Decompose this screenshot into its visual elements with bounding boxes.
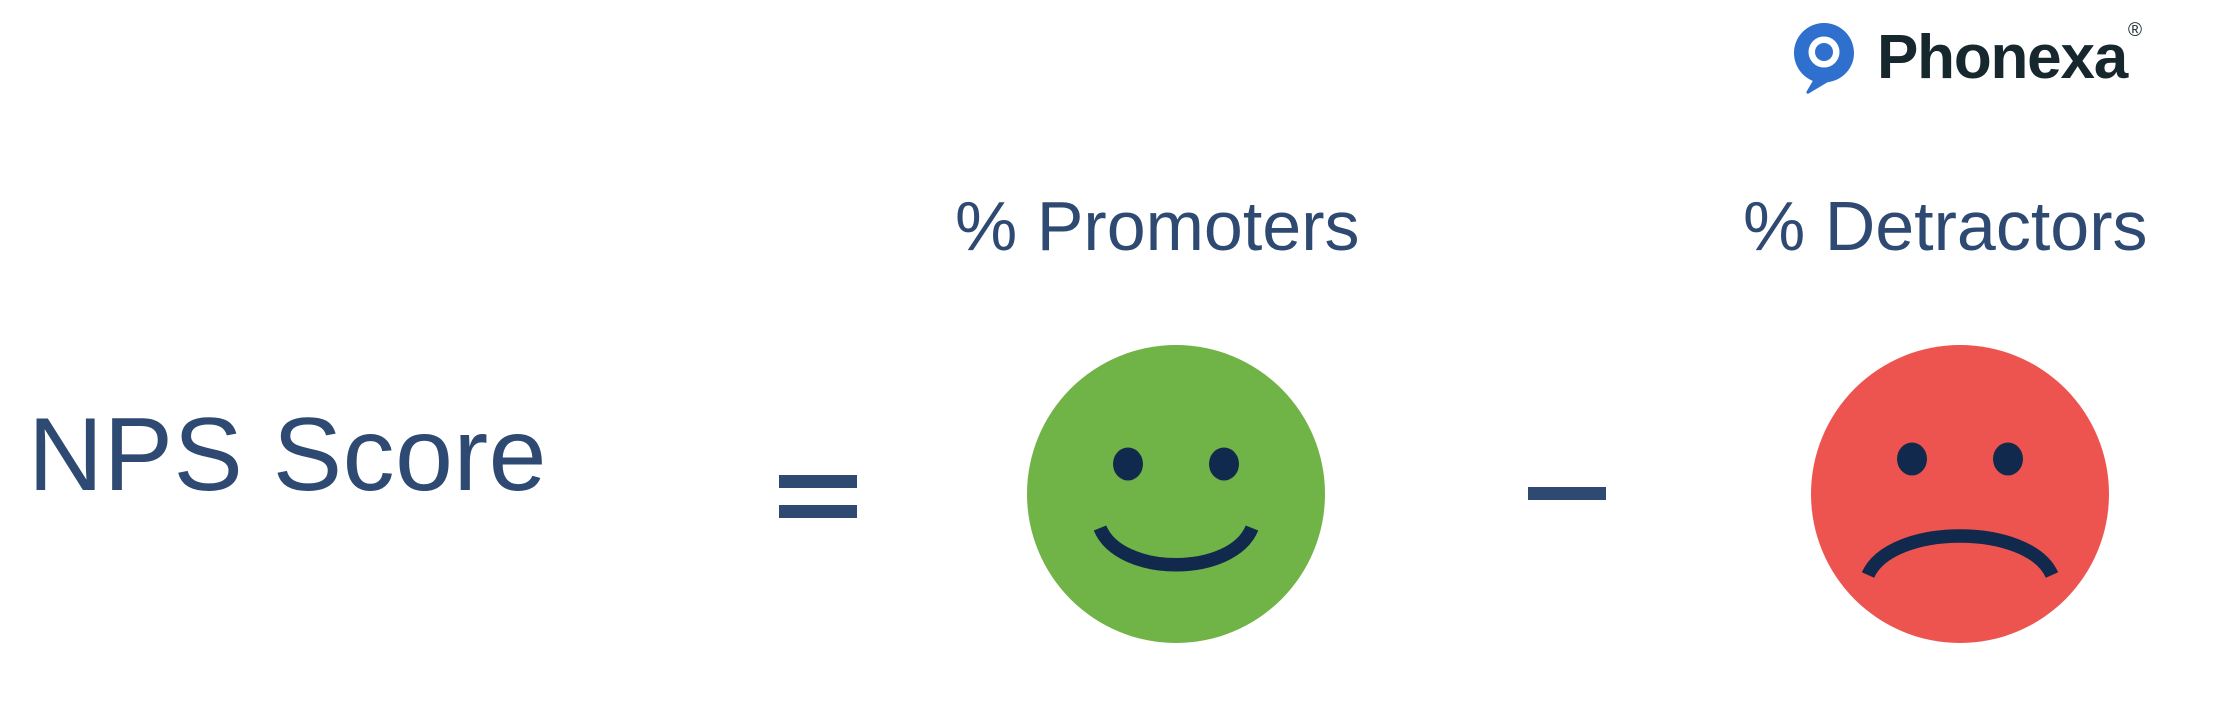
nps-score-label: NPS Score	[28, 398, 547, 512]
happy-face-right-eye	[1209, 448, 1239, 481]
detractors-label: % Detractors	[1743, 188, 2148, 265]
brand-name: Phonexa	[1877, 23, 2127, 92]
minus-sign	[1528, 487, 1606, 500]
equals-sign	[779, 475, 857, 518]
equals-bar-top	[779, 475, 857, 488]
sad-face-icon	[1811, 345, 2109, 643]
happy-face-icon	[1027, 345, 1325, 643]
happy-face-circle	[1027, 345, 1325, 643]
equals-bar-bottom	[779, 505, 857, 518]
promoters-label: % Promoters	[955, 188, 1360, 265]
registered-trademark-symbol: ®	[2128, 20, 2141, 41]
happy-face-left-eye	[1113, 448, 1143, 481]
phonexa-wordmark: Phonexa®	[1877, 27, 2140, 89]
sad-face-right-eye	[1993, 443, 2023, 476]
sad-face-circle	[1811, 345, 2109, 643]
sad-face-left-eye	[1897, 443, 1927, 476]
nps-formula-graphic: Phonexa® NPS Score % Promoters % Detract…	[0, 0, 2220, 720]
phonexa-location-pin-icon	[1793, 22, 1855, 94]
phonexa-logo: Phonexa®	[1793, 22, 2140, 94]
